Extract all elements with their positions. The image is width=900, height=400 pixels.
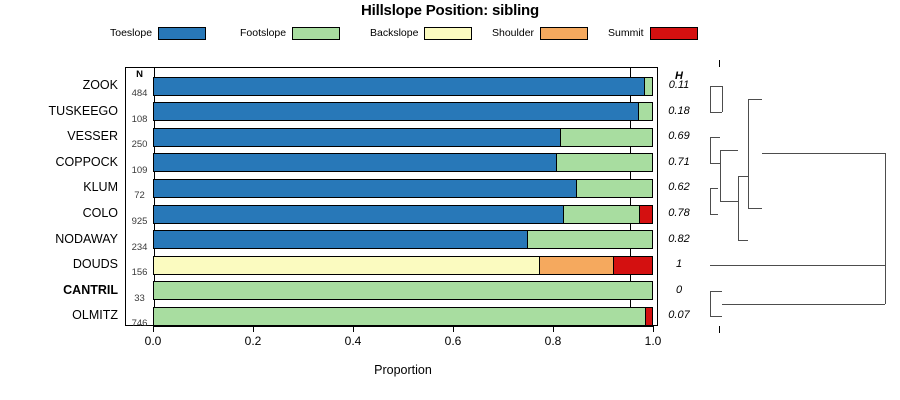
dendrogram-link: [748, 208, 762, 209]
row-n-value: 109: [126, 165, 153, 176]
legend-label: Footslope: [240, 28, 286, 39]
dendrogram-link: [710, 291, 722, 292]
dendrogram-link: [710, 214, 718, 215]
bar-segment-footslope[interactable]: [527, 231, 652, 248]
dendrogram-link: [710, 86, 711, 112]
dendrogram-link: [748, 99, 749, 208]
row-h-value: 0.82: [658, 233, 700, 245]
x-tick: [153, 326, 154, 332]
bar-segment-footslope[interactable]: [154, 308, 645, 325]
row-n-value: 33: [126, 293, 153, 304]
dendrogram-link-douds: [710, 265, 885, 266]
bar-segment-toeslope[interactable]: [154, 154, 556, 171]
row-label-zook: ZOOK: [0, 78, 118, 92]
x-tick: [553, 326, 554, 332]
row-h-value: 0.78: [658, 207, 700, 219]
dendrogram-link: [710, 112, 722, 113]
bar-segment-footslope[interactable]: [638, 103, 652, 120]
row-label-tuskeego: TUSKEEGO: [0, 104, 118, 118]
row-label-coppock: COPPOCK: [0, 155, 118, 169]
dendrogram-root: [885, 153, 886, 303]
bar-segment-shoulder[interactable]: [539, 257, 613, 274]
stacked-bar[interactable]: [153, 153, 653, 172]
dendrogram-link: [710, 188, 718, 189]
dendrogram-tick: [719, 326, 720, 333]
dendrogram-link: [722, 304, 885, 305]
legend-item-shoulder[interactable]: Shoulder: [492, 24, 588, 42]
x-tick: [353, 326, 354, 332]
dendrogram-link: [738, 176, 748, 177]
dendrogram-link: [710, 137, 711, 163]
row-n-value: 72: [126, 190, 153, 201]
dendrogram: [700, 67, 896, 326]
x-tick-label: 0.8: [545, 334, 562, 348]
bar-segment-toeslope[interactable]: [154, 180, 576, 197]
x-axis-title: Proportion: [0, 363, 806, 377]
dendrogram-link: [762, 153, 885, 154]
row-n-value: 156: [126, 267, 153, 278]
dendrogram-link: [720, 201, 738, 202]
dendrogram-link: [710, 291, 711, 317]
legend: Toeslope Footslope Backslope Shoulder Su…: [110, 24, 810, 42]
bar-segment-toeslope[interactable]: [154, 206, 563, 223]
bar-segment-footslope[interactable]: [154, 282, 652, 299]
row-label-olmitz: OLMITZ: [0, 308, 118, 322]
legend-swatch-summit: [650, 27, 698, 40]
row-label-vesser: VESSER: [0, 129, 118, 143]
dendrogram-link: [720, 150, 738, 151]
legend-item-toeslope[interactable]: Toeslope: [110, 24, 206, 42]
dendrogram-link: [738, 240, 748, 241]
bar-segment-footslope[interactable]: [576, 180, 652, 197]
bar-segment-summit[interactable]: [613, 257, 652, 274]
column-header-n: N: [126, 69, 153, 80]
row-label-colo: COLO: [0, 206, 118, 220]
bar-segment-toeslope[interactable]: [154, 129, 560, 146]
x-tick-label: 0.4: [345, 334, 362, 348]
dendrogram-tick: [719, 60, 720, 67]
dendrogram-link: [710, 316, 722, 317]
bar-segment-footslope[interactable]: [563, 206, 639, 223]
bar-segment-summit[interactable]: [639, 206, 652, 223]
bar-segment-toeslope[interactable]: [154, 231, 527, 248]
legend-swatch-shoulder: [540, 27, 588, 40]
dendrogram-link: [710, 86, 722, 87]
dendrogram-link: [748, 99, 762, 100]
row-label-cantril: CANTRIL: [0, 283, 118, 297]
dendrogram-link: [738, 176, 739, 240]
dendrogram-link: [710, 188, 711, 214]
bar-segment-footslope[interactable]: [556, 154, 652, 171]
row-label-douds: DOUDS: [0, 257, 118, 271]
x-tick: [653, 326, 654, 332]
row-n-value: 250: [126, 139, 153, 150]
row-h-value: 1: [658, 258, 700, 270]
x-tick: [253, 326, 254, 332]
x-tick-label: 1.0: [645, 334, 662, 348]
row-h-value: 0.18: [658, 105, 700, 117]
bar-segment-footslope[interactable]: [644, 78, 652, 95]
row-h-value: 0.69: [658, 130, 700, 142]
legend-swatch-footslope: [292, 27, 340, 40]
row-h-value: 0.07: [658, 309, 700, 321]
stacked-bar[interactable]: [153, 256, 653, 275]
stacked-bar[interactable]: [153, 77, 653, 96]
row-h-value: 0.11: [658, 79, 700, 91]
x-tick-label: 0.2: [245, 334, 262, 348]
row-n-value: 234: [126, 242, 153, 253]
x-axis-line: [153, 326, 653, 327]
legend-item-summit[interactable]: Summit: [608, 24, 698, 42]
x-tick-label: 0.0: [145, 334, 162, 348]
dendrogram-link: [710, 163, 720, 164]
legend-label: Summit: [608, 28, 644, 39]
stacked-bar[interactable]: [153, 128, 653, 147]
dendrogram-link: [722, 86, 723, 112]
page-title: Hillslope Position: sibling: [0, 2, 900, 19]
bar-segment-toeslope[interactable]: [154, 103, 638, 120]
stacked-bar[interactable]: [153, 205, 653, 224]
row-label-nodaway: NODAWAY: [0, 232, 118, 246]
row-h-value: 0: [658, 284, 700, 296]
row-n-value: 108: [126, 114, 153, 125]
bar-segment-footslope[interactable]: [560, 129, 652, 146]
stacked-bar[interactable]: [153, 102, 653, 121]
row-n-value: 484: [126, 88, 153, 99]
dendrogram-link: [720, 150, 721, 201]
row-h-value: 0.62: [658, 181, 700, 193]
x-tick: [453, 326, 454, 332]
legend-label: Toeslope: [110, 28, 152, 39]
chart-root: Hillslope Position: sibling Toeslope Foo…: [0, 0, 900, 400]
row-h-value: 0.71: [658, 156, 700, 168]
bar-segment-toeslope[interactable]: [154, 78, 644, 95]
legend-item-backslope[interactable]: Backslope: [370, 24, 472, 42]
legend-swatch-toeslope: [158, 27, 206, 40]
row-label-klum: KLUM: [0, 180, 118, 194]
legend-label: Shoulder: [492, 28, 534, 39]
stacked-bar[interactable]: [153, 307, 653, 326]
bar-segment-summit[interactable]: [645, 308, 652, 325]
stacked-bar[interactable]: [153, 179, 653, 198]
row-n-value: 925: [126, 216, 153, 227]
legend-label: Backslope: [370, 28, 418, 39]
bar-segment-backslope[interactable]: [154, 257, 539, 274]
stacked-bar[interactable]: [153, 230, 653, 249]
x-tick-label: 0.6: [445, 334, 462, 348]
row-n-value: 746: [126, 318, 153, 329]
stacked-bar[interactable]: [153, 281, 653, 300]
legend-item-footslope[interactable]: Footslope: [240, 24, 340, 42]
dendrogram-link: [710, 137, 720, 138]
legend-swatch-backslope: [424, 27, 472, 40]
